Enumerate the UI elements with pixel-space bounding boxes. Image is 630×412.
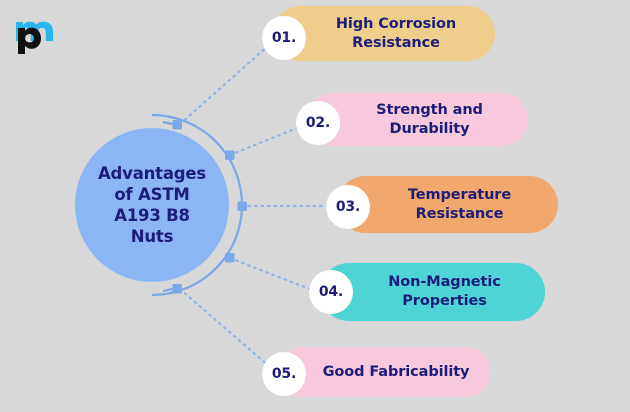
- advantage-number-badge-04: 04.: [309, 270, 353, 314]
- advantage-number-badge-01: 01.: [262, 16, 306, 60]
- advantage-pill-05[interactable]: Good Fabricability: [278, 347, 490, 397]
- advantage-label-03: Temperature Resistance: [337, 186, 558, 224]
- advantage-pill-02[interactable]: Strength and Durability: [307, 93, 528, 146]
- arc-node-03: [238, 202, 248, 212]
- center-node: Advantages of ASTM A193 B8 Nuts: [75, 128, 229, 282]
- advantage-number-badge-05: 05.: [262, 352, 306, 396]
- arc-node-top: [173, 120, 183, 130]
- leader-line-04: [230, 258, 312, 290]
- advantage-number-05: 05.: [272, 366, 296, 382]
- advantage-label-02: Strength and Durability: [307, 101, 528, 139]
- advantage-number-02: 02.: [306, 115, 330, 131]
- center-title: Advantages of ASTM A193 B8 Nuts: [90, 163, 214, 247]
- arc-node-bottom: [173, 284, 183, 294]
- advantage-pill-04[interactable]: Non-Magnetic Properties: [320, 263, 545, 321]
- advantage-pill-03[interactable]: Temperature Resistance: [337, 176, 558, 233]
- advantage-number-03: 03.: [336, 199, 360, 215]
- arc-node-04: [225, 253, 235, 263]
- advantage-number-badge-02: 02.: [296, 101, 340, 145]
- advantage-number-01: 01.: [272, 30, 296, 46]
- advantage-pill-01[interactable]: High Corrosion Resistance: [273, 6, 495, 61]
- advantage-label-01: High Corrosion Resistance: [273, 15, 495, 53]
- advantage-number-badge-03: 03.: [326, 185, 370, 229]
- arc-node-02: [225, 151, 235, 161]
- advantage-number-04: 04.: [319, 284, 343, 300]
- leader-line-05: [180, 289, 278, 374]
- infographic-canvas: Advantages of ASTM A193 B8 Nuts High Cor…: [0, 0, 630, 412]
- advantage-label-04: Non-Magnetic Properties: [320, 273, 545, 311]
- advantage-label-05: Good Fabricability: [278, 363, 490, 382]
- leader-line-01: [180, 37, 278, 124]
